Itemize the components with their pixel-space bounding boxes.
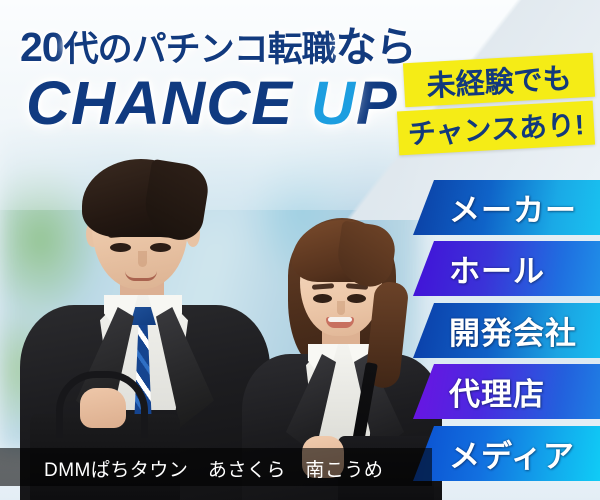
headline-line-1: 20代のパチンコ転職なら xyxy=(20,13,416,73)
logo-chance-text: CHANCE xyxy=(26,69,311,137)
man-eye-left xyxy=(110,243,131,252)
category-tag-maker[interactable]: メーカー xyxy=(413,180,600,235)
caption-credits: DMMぱちタウン あさくら 南こうめ xyxy=(44,455,383,482)
people-photo xyxy=(0,130,430,500)
category-tag-development-company-label: 開発会社 xyxy=(449,308,577,353)
headline-age-number: 20 xyxy=(20,24,64,70)
category-tag-hall-label: ホール xyxy=(449,246,545,291)
man-eye-right xyxy=(150,243,171,252)
headline-line-1-rest: 代のパチンコ転職 xyxy=(64,30,336,69)
recruitment-banner[interactable]: 20代のパチンコ転職なら CHANCE UP 未経験でも チャンスあり! メーカ… xyxy=(0,0,600,500)
woman-teeth xyxy=(328,317,352,322)
woman-eye-right xyxy=(347,294,366,303)
woman-nose xyxy=(337,301,345,315)
category-tag-hall[interactable]: ホール xyxy=(413,241,600,296)
badge-no-experience-label: 未経験でも xyxy=(425,55,572,105)
logo-u-letter: U xyxy=(311,69,356,137)
man-nose xyxy=(138,251,147,267)
woman-eye-left xyxy=(313,294,332,303)
man-hand xyxy=(80,388,126,428)
category-tag-media-label: メディア xyxy=(449,431,575,476)
man-mouth xyxy=(125,271,157,281)
category-tag-media[interactable]: メディア xyxy=(413,426,600,481)
chance-up-logo: CHANCE UP xyxy=(26,68,398,138)
category-tag-agency-label: 代理店 xyxy=(449,369,545,414)
category-tag-agency[interactable]: 代理店 xyxy=(413,364,600,419)
logo-p-letter: P xyxy=(356,69,398,137)
category-tag-development-company[interactable]: 開発会社 xyxy=(413,303,600,358)
category-tag-maker-label: メーカー xyxy=(449,185,577,230)
badge-chance-available-label: チャンスあり! xyxy=(407,103,585,153)
